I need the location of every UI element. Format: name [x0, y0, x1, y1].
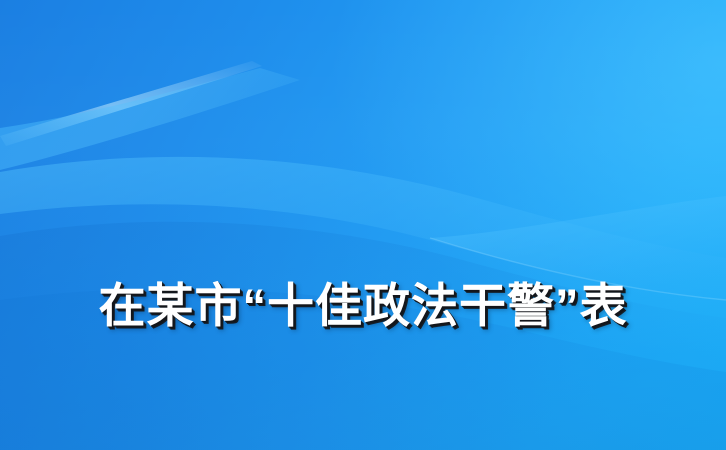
cover-card: 在某市“十佳政法干警”表 扬暨先进事迹报告会上的讲 话（三） [0, 0, 726, 450]
page-title: 在某市“十佳政法干警”表 扬暨先进事迹报告会上的讲 话（三） [0, 106, 726, 450]
title-line-1: 在某市“十佳政法干警”表 [0, 266, 726, 346]
